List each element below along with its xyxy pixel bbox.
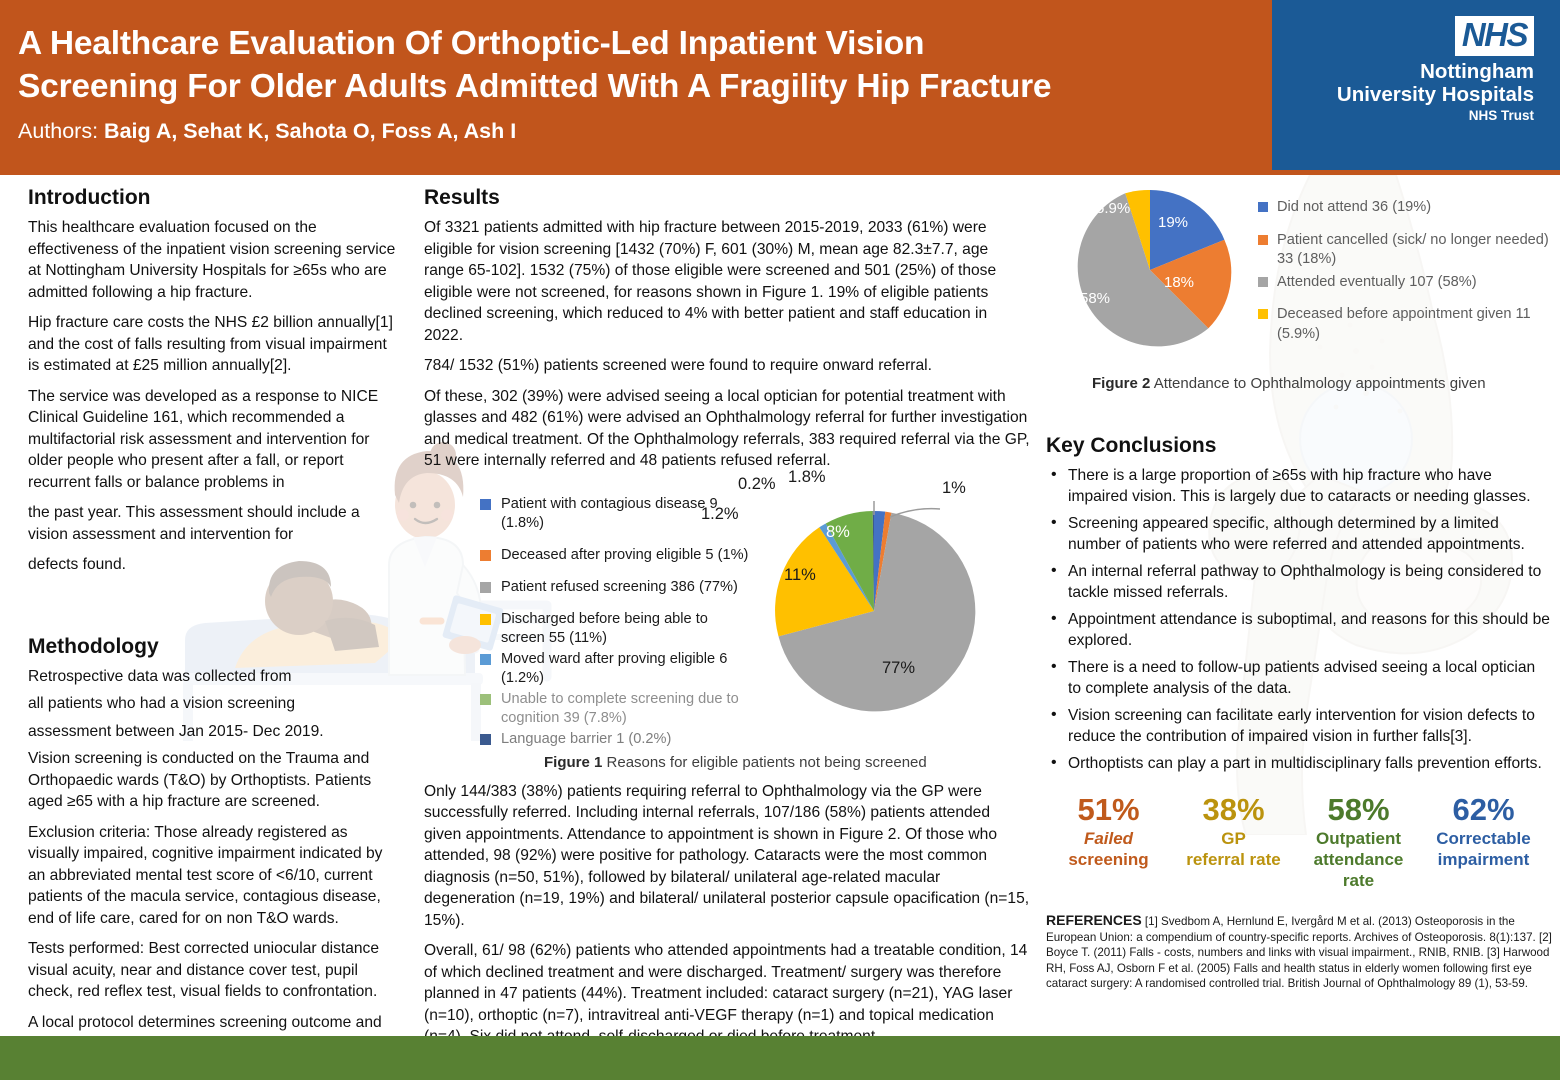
methodology-paragraph-5: Exclusion criteria: Those already regist… <box>28 822 400 930</box>
results-paragraph-1: Of 3321 patients admitted with hip fract… <box>424 217 1030 346</box>
legend-item: Deceased before appointment given 11 (5.… <box>1258 305 1554 344</box>
references-block: REFERENCES [1] Svedbom A, Hernlund E, Iv… <box>1046 913 1552 992</box>
page-title-line1: A Healthcare Evaluation Of Orthoptic-Led… <box>18 22 1218 65</box>
right-column: 5.9% 19% 18% 58% Did not attend 36 (19%)… <box>1046 186 1552 992</box>
methodology-paragraph-4: Vision screening is conducted on the Tra… <box>28 748 400 813</box>
pie-slice-label: 1.8% <box>788 468 826 487</box>
stat-label-line2: screening <box>1046 849 1171 870</box>
legend-item: Discharged before being able to screen 5… <box>480 610 750 648</box>
legend-swatch-icon <box>480 734 491 745</box>
pie-slice-label: 11% <box>784 566 816 585</box>
poster-header: A Healthcare Evaluation Of Orthoptic-Led… <box>0 0 1560 175</box>
legend-item: Attended eventually 107 (58%) <box>1258 273 1554 293</box>
methodology-paragraph-2: all patients who had a vision screening <box>28 693 400 715</box>
legend-label: Moved ward after proving eligible 6 (1.2… <box>501 651 727 686</box>
introduction-paragraph-2: Hip fracture care costs the NHS £2 billi… <box>28 312 400 377</box>
pie-slice-label: 1% <box>942 479 966 498</box>
figure-2-caption: Figure 2 Attendance to Ophthalmology app… <box>1092 374 1560 393</box>
stat-value: 58% <box>1296 792 1421 828</box>
stat-label-line2: attendance <box>1296 849 1421 870</box>
legend-swatch-icon <box>480 499 491 510</box>
legend-label: Patient with contagious disease 9 (1.8%) <box>501 496 718 531</box>
legend-item: Deceased after proving eligible 5 (1%) <box>480 546 750 565</box>
legend-item: Language barrier 1 (0.2%) <box>480 730 750 749</box>
pie-slice-label: 5.9% <box>1096 200 1130 217</box>
stat-card: 58% Outpatient attendance rate <box>1296 792 1421 891</box>
references-label: REFERENCES <box>1046 912 1142 928</box>
stat-card: 62% Correctable impairment <box>1421 792 1546 891</box>
figure-1: Patient with contagious disease 9 (1.8%)… <box>424 481 1030 781</box>
results-paragraph-5: Overall, 61/ 98 (62%) patients who atten… <box>424 940 1030 1048</box>
stat-value: 62% <box>1421 792 1546 828</box>
results-paragraph-4: Only 144/383 (38%) patients requiring re… <box>424 781 1030 932</box>
stat-value: 51% <box>1046 792 1171 828</box>
legend-item: Did not attend 36 (19%) <box>1258 198 1554 218</box>
pie-slice-label: 1.2% <box>701 505 739 524</box>
figure-2-caption-label: Figure 2 <box>1092 375 1150 392</box>
figure-1-caption: Figure 1 Reasons for eligible patients n… <box>544 753 1014 772</box>
introduction-paragraph-1: This healthcare evaluation focused on th… <box>28 217 400 303</box>
legend-item: Moved ward after proving eligible 6 (1.2… <box>480 650 750 688</box>
key-conclusions-heading: Key Conclusions <box>1046 434 1552 458</box>
figure-1-pie-chart: 0.2% 1.8% 1% 1.2% 8% 11% 0.2% 77% <box>764 501 984 721</box>
poster-canvas: A Healthcare Evaluation Of Orthoptic-Led… <box>0 0 1560 1080</box>
results-paragraph-3: Of these, 302 (39%) were advised seeing … <box>424 386 1030 472</box>
stat-label-line2: impairment <box>1421 849 1546 870</box>
pie-slice-label: 77% <box>882 659 915 678</box>
stat-label-line2: referral rate <box>1171 849 1296 870</box>
legend-label: Unable to complete screening due to cogn… <box>501 691 739 726</box>
legend-label: Language barrier 1 (0.2%) <box>501 731 671 747</box>
nhs-logo: NHS Nottingham University Hospitals NHS … <box>1272 0 1560 170</box>
left-column: Introduction This healthcare evaluation … <box>28 186 400 1080</box>
poster-footer-bar <box>0 1036 1560 1080</box>
figure-2: 5.9% 19% 18% 58% Did not attend 36 (19%)… <box>1046 186 1552 404</box>
authors-names: Baig A, Sehat K, Sahota O, Foss A, Ash I <box>104 119 516 143</box>
nhs-wordmark-icon: NHS <box>1455 16 1534 56</box>
list-item: Screening appeared specific, although de… <box>1046 513 1552 555</box>
methodology-heading: Methodology <box>28 635 400 659</box>
figure-2-pie-chart: 5.9% 19% 18% 58% <box>1066 186 1234 354</box>
authors-label: Authors: <box>18 119 104 143</box>
legend-item: Patient cancelled (sick/ no longer neede… <box>1258 231 1554 270</box>
legend-label: Did not attend 36 (19%) <box>1277 199 1431 215</box>
introduction-paragraph-3: The service was developed as a response … <box>28 386 400 494</box>
results-heading: Results <box>424 186 1030 210</box>
title-block: A Healthcare Evaluation Of Orthoptic-Led… <box>18 22 1218 144</box>
stat-label-line1: Outpatient <box>1296 828 1421 849</box>
methodology-paragraph-1: Retrospective data was collected from <box>28 666 400 688</box>
stat-value: 38% <box>1171 792 1296 828</box>
legend-swatch-icon <box>480 582 491 593</box>
legend-swatch-icon <box>1258 235 1268 245</box>
stat-card: 38% GP referral rate <box>1171 792 1296 891</box>
figure-2-caption-text: Attendance to Ophthalmology appointments… <box>1150 375 1485 392</box>
page-title-line2: Screening For Older Adults Admitted With… <box>18 65 1218 108</box>
list-item: Orthoptists can play a part in multidisc… <box>1046 753 1552 774</box>
key-conclusions-section: Key Conclusions There is a large proport… <box>1046 434 1552 774</box>
pie-slice-label: 19% <box>1158 214 1188 231</box>
legend-swatch-icon <box>480 694 491 705</box>
nhs-trust-line1: Nottingham <box>1294 60 1534 83</box>
pie-slice-label: 8% <box>826 523 850 542</box>
stat-label-line1: GP <box>1171 828 1296 849</box>
pie-slice-label: 0.2% <box>738 475 776 494</box>
legend-label: Patient refused screening 386 (77%) <box>501 579 738 595</box>
figure-2-legend: Did not attend 36 (19%) Patient cancelle… <box>1258 198 1554 347</box>
key-conclusions-list: There is a large proportion of ≥65s with… <box>1046 465 1552 774</box>
list-item: There is a large proportion of ≥65s with… <box>1046 465 1552 507</box>
stat-label-line1: Correctable <box>1421 828 1546 849</box>
pie-slice-label: 58% <box>1080 290 1110 307</box>
legend-swatch-icon <box>480 550 491 561</box>
introduction-heading: Introduction <box>28 186 400 210</box>
legend-item: Unable to complete screening due to cogn… <box>480 690 750 728</box>
legend-swatch-icon <box>1258 277 1268 287</box>
legend-swatch-icon <box>480 614 491 625</box>
results-paragraph-2: 784/ 1532 (51%) patients screened were f… <box>424 355 1030 377</box>
figure-1-caption-text: Reasons for eligible patients not being … <box>602 754 926 771</box>
legend-label: Deceased after proving eligible 5 (1%) <box>501 547 748 563</box>
stat-label-line1: Failed <box>1046 828 1171 849</box>
methodology-paragraph-6: Tests performed: Best corrected uniocula… <box>28 938 400 1003</box>
nhs-trust-name: Nottingham University Hospitals <box>1294 60 1534 106</box>
figure-1-caption-label: Figure 1 <box>544 754 602 771</box>
legend-label: Deceased before appointment given 11 (5.… <box>1277 306 1531 342</box>
introduction-paragraph-4: the past year. This assessment should in… <box>28 502 400 545</box>
list-item: An internal referral pathway to Ophthalm… <box>1046 561 1552 603</box>
legend-item: Patient refused screening 386 (77%) <box>480 578 750 597</box>
list-item: There is a need to follow-up patients ad… <box>1046 657 1552 699</box>
authors-line: Authors: Baig A, Sehat K, Sahota O, Foss… <box>18 118 1218 144</box>
legend-swatch-icon <box>480 654 491 665</box>
legend-swatch-icon <box>1258 309 1268 319</box>
introduction-paragraph-5: defects found. <box>28 554 400 576</box>
stat-label-line3: rate <box>1296 870 1421 891</box>
legend-swatch-icon <box>1258 202 1268 212</box>
key-statistics-row: 51% Failed screening 38% GP referral rat… <box>1046 792 1552 891</box>
nhs-trust-line2: University Hospitals <box>1294 83 1534 106</box>
figure-1-legend: Patient with contagious disease 9 (1.8%)… <box>480 495 750 751</box>
pie-slice-label: 18% <box>1164 274 1194 291</box>
legend-label: Discharged before being able to screen 5… <box>501 611 708 646</box>
legend-label: Patient cancelled (sick/ no longer neede… <box>1277 232 1549 268</box>
stat-card: 51% Failed screening <box>1046 792 1171 891</box>
nhs-trust-sub: NHS Trust <box>1294 108 1534 123</box>
legend-label: Attended eventually 107 (58%) <box>1277 274 1477 290</box>
methodology-paragraph-3: assessment between Jan 2015- Dec 2019. <box>28 721 400 743</box>
list-item: Vision screening can facilitate early in… <box>1046 705 1552 747</box>
list-item: Appointment attendance is suboptimal, an… <box>1046 609 1552 651</box>
middle-column: Results Of 3321 patients admitted with h… <box>424 186 1030 1057</box>
